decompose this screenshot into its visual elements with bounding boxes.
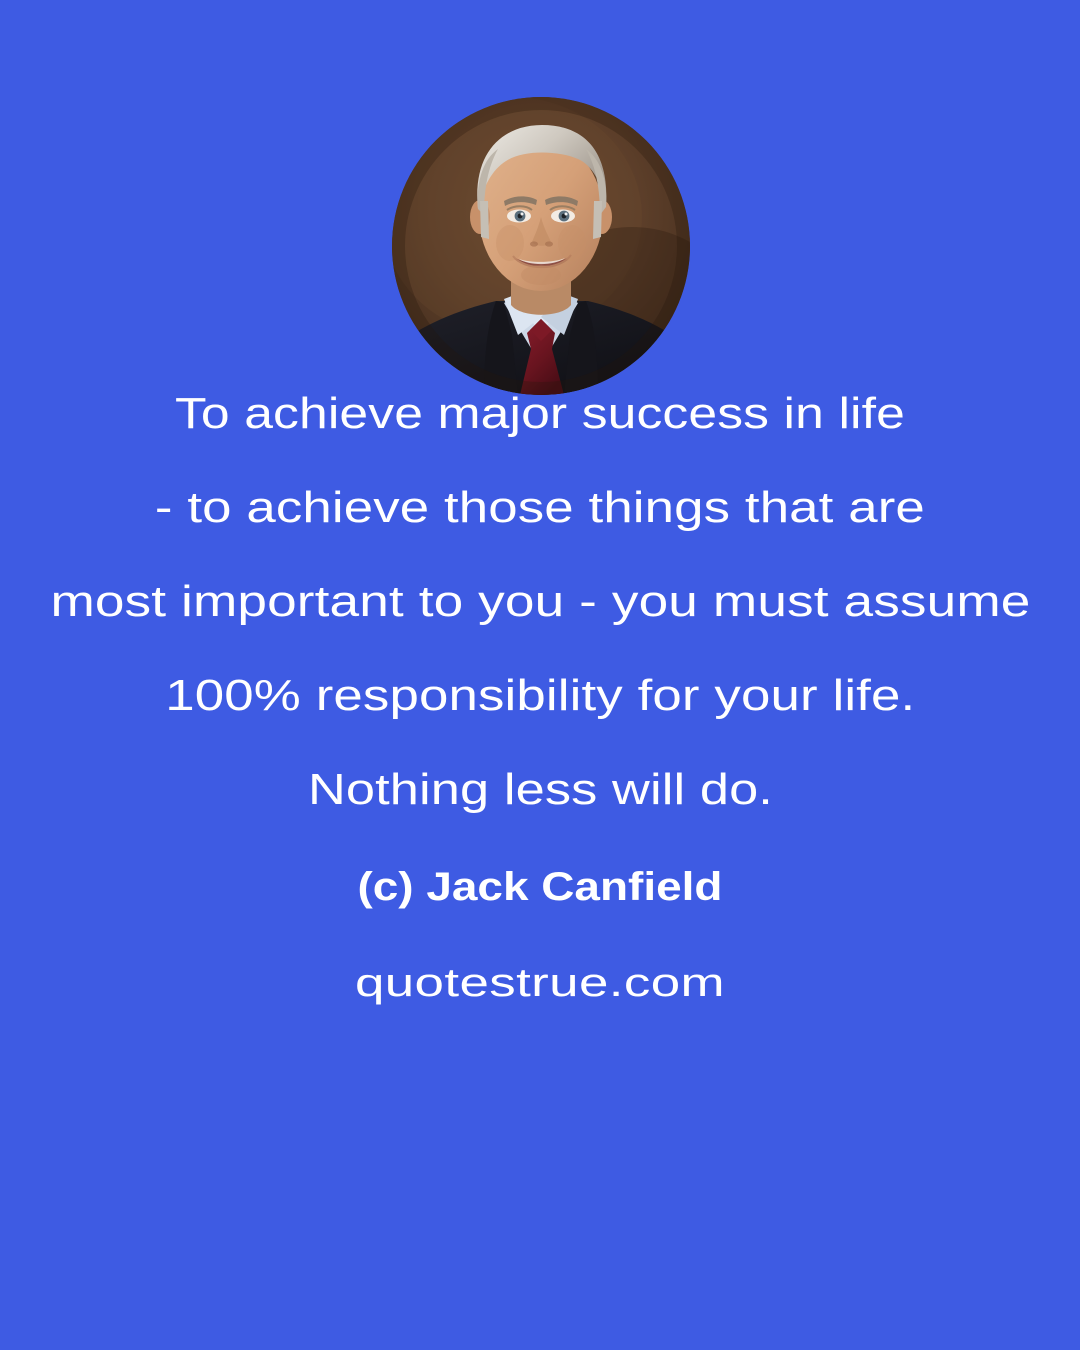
quote-line: To achieve major success in life (0, 388, 1080, 440)
quote-line: 100% responsibility for your life. (0, 670, 1080, 722)
avatar (392, 97, 690, 395)
quote-line: Nothing less will do. (0, 764, 1080, 816)
quote-attribution: (c) Jack Canfield (0, 862, 1080, 912)
quote-line: most important to you - you must assume (0, 576, 1080, 628)
portrait-avatar-icon (392, 97, 690, 395)
quote-line: - to achieve those things that are (0, 482, 1080, 534)
quote-card: To achieve major success in life - to ac… (0, 0, 1080, 1350)
website-label: quotestrue.com (0, 958, 1080, 1008)
